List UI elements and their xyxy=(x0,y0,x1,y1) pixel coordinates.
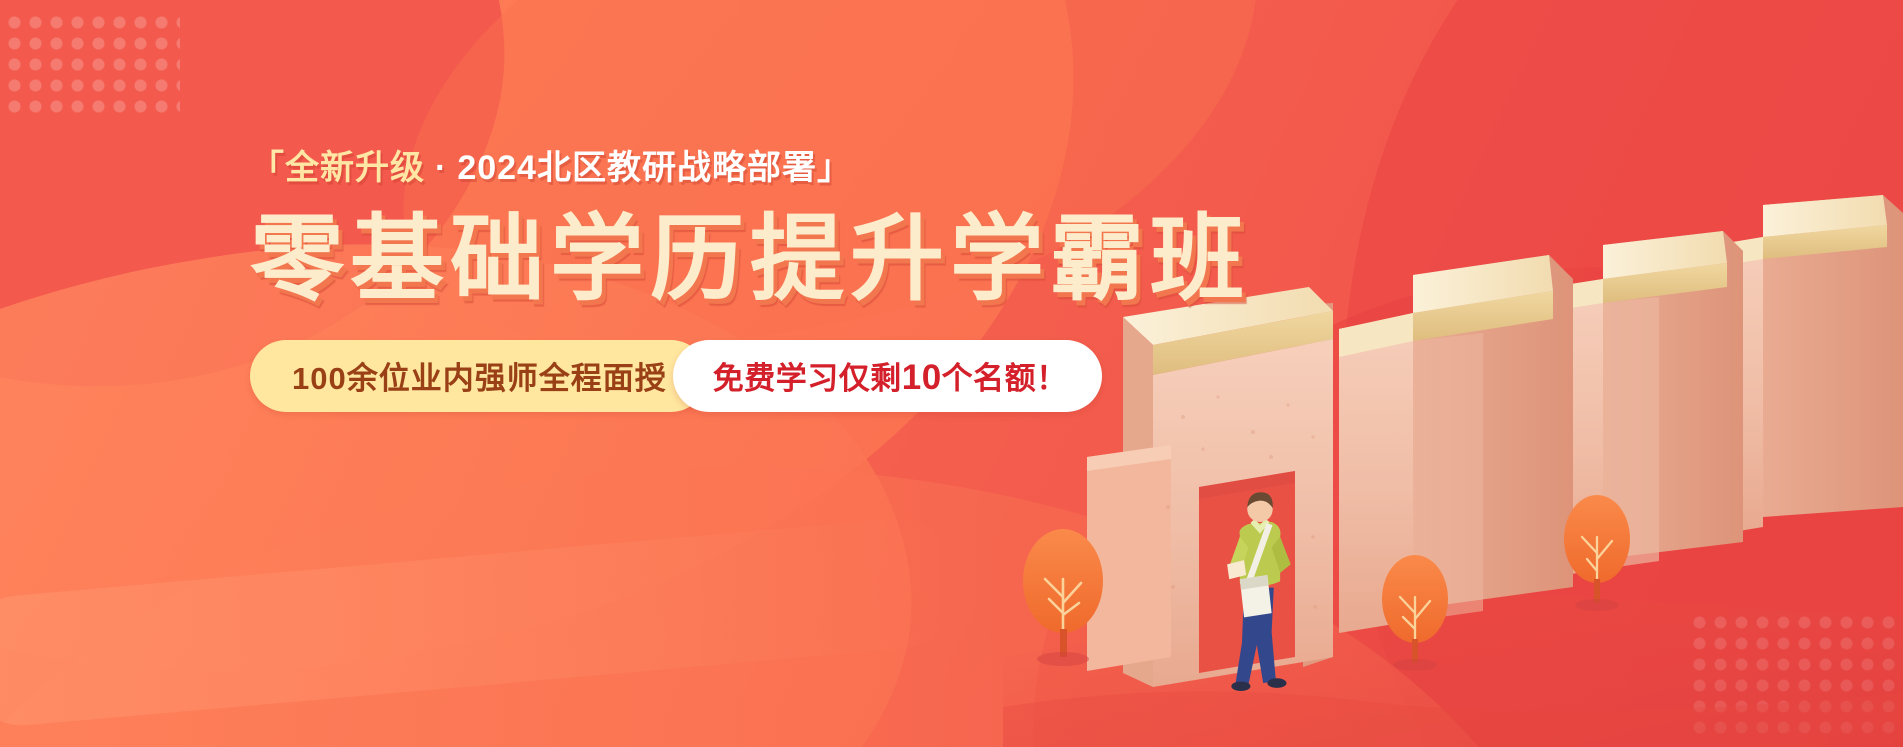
promo-banner: 「全新升级·2024北区教研战略部署」 零基础学历提升学霸班 100余位业内强师… xyxy=(0,0,1903,747)
banner-subtitle: 「全新升级·2024北区教研战略部署」 xyxy=(250,148,1250,189)
offer-suffix: 个名额！ xyxy=(942,361,1068,396)
offer-pill[interactable]: 免费学习仅剩10个名额！ xyxy=(673,340,1102,412)
banner-pill-row: 100余位业内强师全程面授 免费学习仅剩10个名额！ xyxy=(250,340,1250,412)
tree-right xyxy=(1564,495,1630,611)
offer-count: 10 xyxy=(902,358,942,397)
offer-prefix: 免费学习仅剩 xyxy=(713,361,902,396)
bg-shape-light-streak xyxy=(0,514,964,731)
dot-grid-top-left-icon xyxy=(0,8,180,118)
subtitle-rest: 2024北区教研战略部署 xyxy=(457,149,817,187)
subtitle-separator: · xyxy=(425,149,457,187)
bracket-close: 」 xyxy=(817,149,852,187)
book-arch-2 xyxy=(1339,255,1573,633)
bracket-open: 「 xyxy=(250,149,285,187)
banner-copy: 「全新升级·2024北区教研战略部署」 零基础学历提升学霸班 100余位业内强师… xyxy=(250,148,1250,412)
subtitle-highlight: 全新升级 xyxy=(285,149,425,187)
teachers-pill[interactable]: 100余位业内强师全程面授 xyxy=(250,340,707,412)
banner-headline: 零基础学历提升学霸班 xyxy=(250,209,1250,311)
